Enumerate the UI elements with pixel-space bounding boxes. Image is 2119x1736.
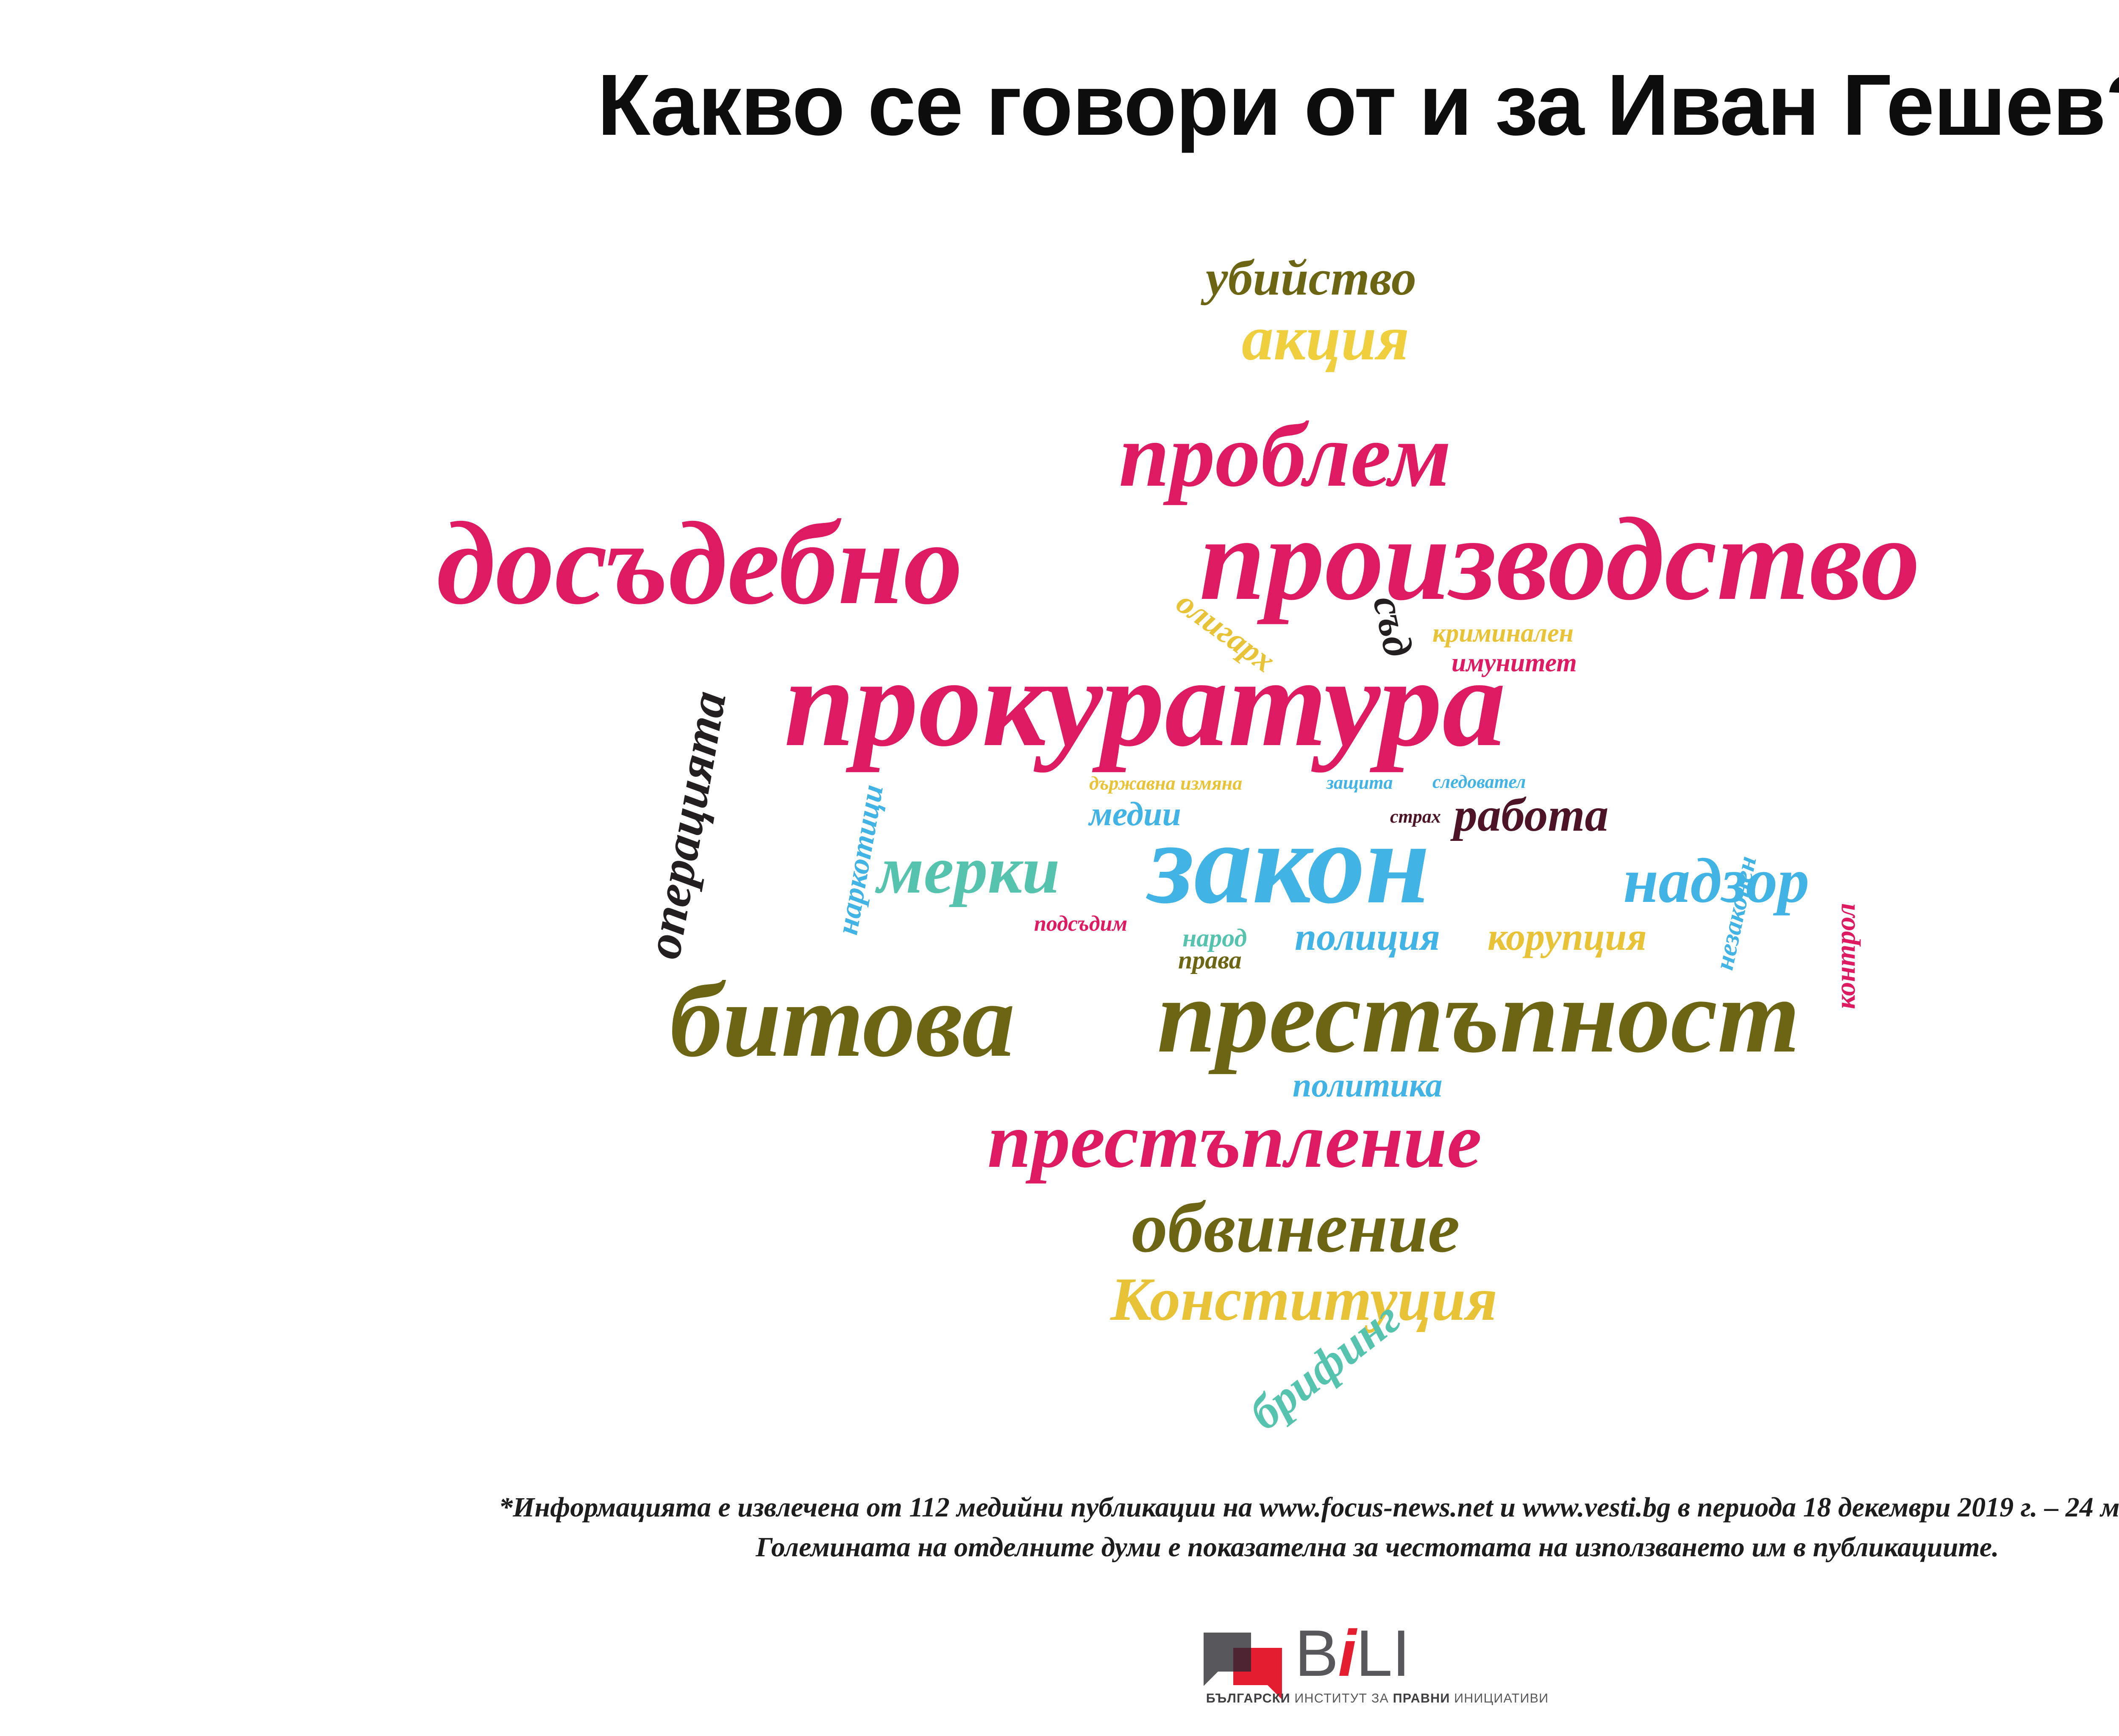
cloud-word: обвинение: [1132, 1199, 1460, 1256]
footnote: *Информацията е извлечена от 112 медийни…: [0, 1488, 2119, 1567]
cloud-word: контрол: [1835, 903, 1856, 1009]
cloud-word: престъпление: [987, 1110, 1482, 1171]
cloud-word: народ: [1182, 928, 1247, 948]
word-cloud-poster: Какво се говори от и за Иван Гешев? убий…: [0, 0, 2119, 1736]
footnote-line-2: Големината на отделните думи е показател…: [0, 1527, 2119, 1567]
cloud-word: операцията: [643, 688, 729, 961]
logo-letter-i: i: [1338, 1616, 1356, 1690]
page-title: Какво се говори от и за Иван Гешев?: [0, 55, 2119, 155]
cloud-word: държавна измяна: [1089, 776, 1242, 791]
cloud-word: битова: [670, 979, 1015, 1062]
logo-tagline-part-4: ИНИЦИАТИВИ: [1450, 1691, 1549, 1705]
speech-bubble-overlap-icon: [1233, 1648, 1251, 1672]
cloud-word: производство: [1199, 513, 1920, 605]
cloud-word: мерки: [877, 843, 1060, 896]
bili-logo: BiLI БЪЛГАРСКИ ИНСТИТУТ ЗА ПРАВНИ ИНИЦИА…: [1204, 1623, 1551, 1717]
cloud-word: политика: [1293, 1072, 1442, 1099]
logo-letters-li: LI: [1356, 1616, 1410, 1690]
cloud-word: работа: [1454, 797, 1609, 834]
cloud-word: следовател: [1432, 775, 1526, 789]
logo-wordmark: BiLI: [1295, 1616, 1410, 1691]
footnote-line-1: *Информацията е извлечена от 112 медийни…: [0, 1488, 2119, 1527]
cloud-word: проблем: [1119, 420, 1451, 491]
cloud-word: подсъдим: [1034, 915, 1127, 933]
logo-letter-b: B: [1295, 1616, 1338, 1690]
cloud-word: закон: [1148, 818, 1430, 909]
cloud-word: акция: [1242, 314, 1409, 363]
cloud-word: Конституция: [1110, 1276, 1497, 1324]
cloud-word: защита: [1326, 776, 1393, 790]
cloud-word: корупция: [1488, 922, 1647, 952]
cloud-word: убийство: [1206, 259, 1416, 298]
word-cloud: убийствоакцияпроблемдосъдебнопроизводств…: [0, 182, 2119, 1458]
cloud-word: престъпност: [1157, 975, 1800, 1057]
cloud-word: полиция: [1295, 922, 1440, 952]
logo-tagline-part-1: БЪЛГАРСКИ: [1206, 1691, 1290, 1705]
logo-tagline-part-3: ПРАВНИ: [1393, 1691, 1450, 1705]
logo-tagline: БЪЛГАРСКИ ИНСТИТУТ ЗА ПРАВНИ ИНИЦИАТИВИ: [1204, 1691, 1551, 1706]
logo-tagline-part-2: ИНСТИТУТ ЗА: [1290, 1691, 1393, 1705]
cloud-word: досъдебно: [437, 517, 963, 609]
cloud-word: прокуратура: [784, 653, 1506, 752]
logo-mark: BiLI: [1204, 1623, 1551, 1687]
cloud-word: надзор: [1623, 856, 1809, 906]
